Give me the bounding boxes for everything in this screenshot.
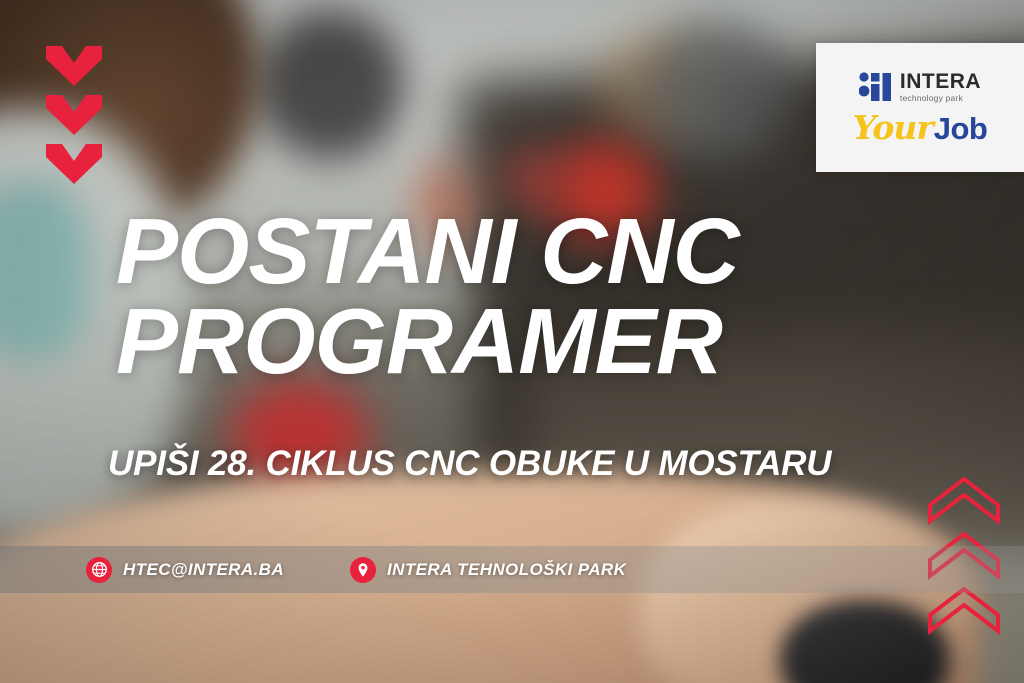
globe-icon bbox=[86, 557, 112, 583]
headline-line-2: PROGRAMER bbox=[116, 296, 916, 386]
logo-card: INTERA technology park YourJob bbox=[816, 43, 1024, 172]
chevron-down-icon bbox=[46, 144, 102, 184]
contact-item-location[interactable]: INTERA TEHNOLOŠKI PARK bbox=[350, 557, 626, 583]
subheadline: UPIŠI 28. CIKLUS CNC OBUKE U MOSTARU bbox=[108, 444, 831, 484]
intera-logo: INTERA technology park bbox=[859, 71, 981, 103]
contact-bar: HTEC@INTERA.BA INTERA TEHNOLOŠKI PARK bbox=[0, 546, 1024, 593]
chevron-down-stack-top-left bbox=[46, 46, 102, 193]
chevron-down-icon bbox=[46, 46, 102, 86]
intera-wordmark: INTERA technology park bbox=[900, 71, 981, 103]
yourjob-job-text: Job bbox=[934, 113, 988, 144]
contact-location-text: INTERA TEHNOLOŠKI PARK bbox=[387, 560, 626, 580]
chevron-up-icon bbox=[926, 473, 1002, 525]
yourjob-logo: YourJob bbox=[853, 111, 988, 144]
intera-mark-icon bbox=[859, 72, 893, 102]
intera-tagline: technology park bbox=[900, 94, 981, 103]
promotional-poster: INTERA technology park YourJob POSTANI C… bbox=[0, 0, 1024, 683]
page-title: POSTANI CNC PROGRAMER bbox=[116, 206, 916, 386]
contact-email-text: HTEC@INTERA.BA bbox=[123, 560, 284, 580]
chevron-down-icon bbox=[46, 95, 102, 135]
location-pin-icon bbox=[350, 557, 376, 583]
yourjob-your-text: Your bbox=[853, 111, 933, 144]
contact-item-email[interactable]: HTEC@INTERA.BA bbox=[86, 557, 284, 583]
intera-name: INTERA bbox=[900, 71, 981, 92]
headline-line-1: POSTANI CNC bbox=[116, 199, 739, 303]
